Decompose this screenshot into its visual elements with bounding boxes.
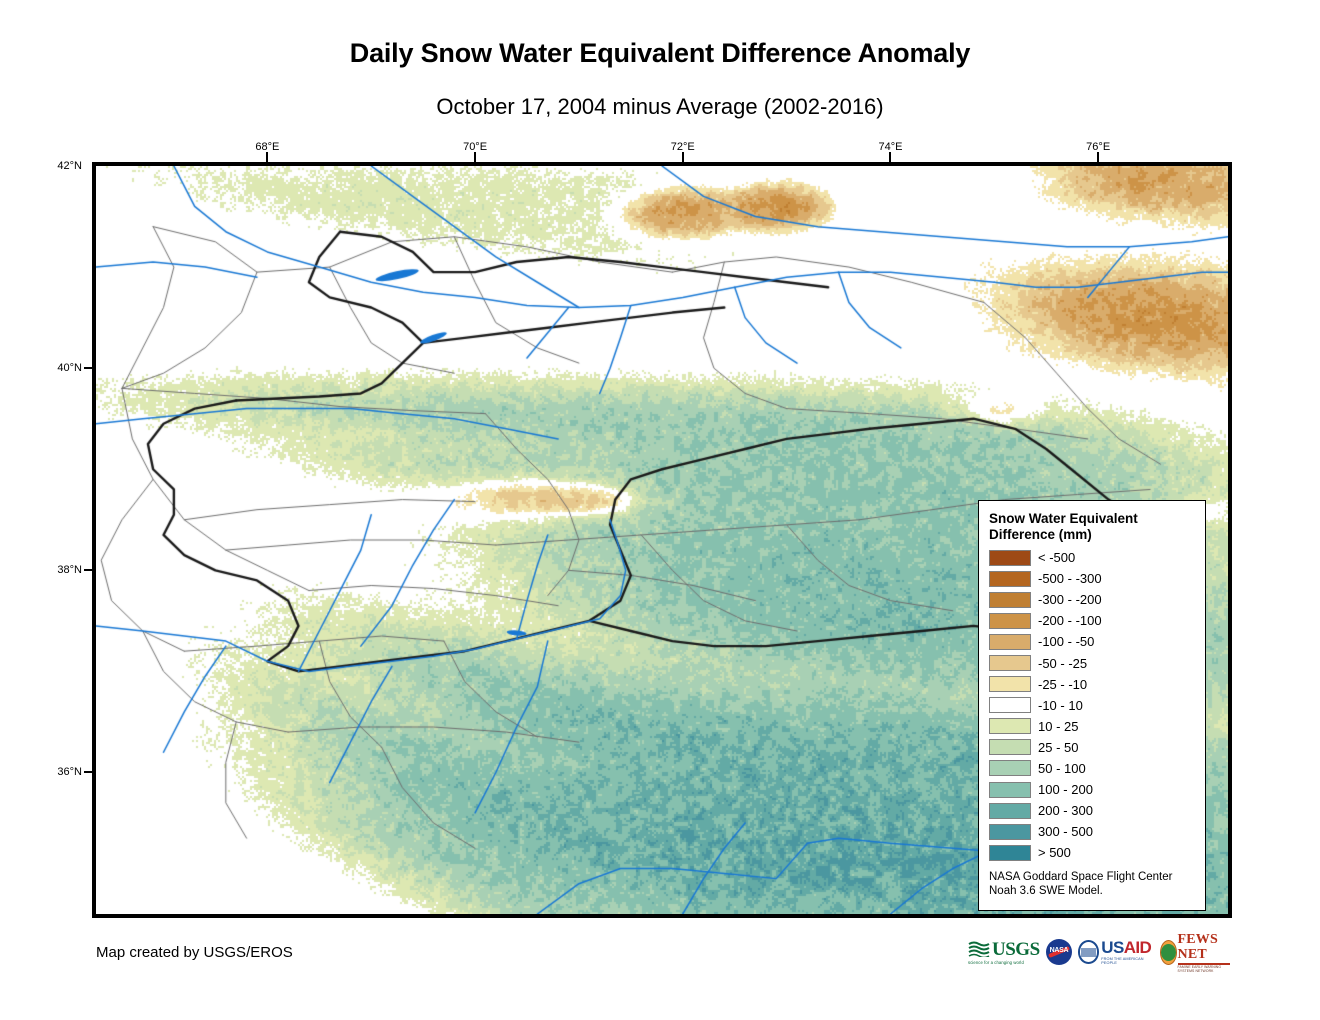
legend-color-swatch bbox=[989, 803, 1031, 819]
legend-color-swatch bbox=[989, 760, 1031, 776]
legend-class-label: -500 - -300 bbox=[1038, 571, 1102, 586]
legend-color-swatch bbox=[989, 550, 1031, 566]
legend-class-label: 100 - 200 bbox=[1038, 782, 1093, 797]
nasa-meatball-icon: NASA bbox=[1046, 939, 1072, 965]
legend-color-swatch bbox=[989, 592, 1031, 608]
usaid-logo-text-secondary: AID bbox=[1124, 938, 1151, 957]
legend-row: -300 - -200 bbox=[989, 589, 1195, 610]
legend-class-label: 300 - 500 bbox=[1038, 824, 1093, 839]
map-legend: Snow Water Equivalent Difference (mm) < … bbox=[978, 500, 1206, 911]
usgs-logo: USGS science for a changing world bbox=[968, 935, 1040, 969]
legend-row: -10 - 10 bbox=[989, 695, 1195, 716]
legend-row: 25 - 50 bbox=[989, 737, 1195, 758]
legend-source-note: NASA Goddard Space Flight Center Noah 3.… bbox=[989, 870, 1195, 898]
latitude-label: 40°N bbox=[40, 362, 82, 374]
legend-row: -200 - -100 bbox=[989, 610, 1195, 631]
legend-color-swatch bbox=[989, 782, 1031, 798]
fews-globe-icon bbox=[1160, 940, 1177, 965]
legend-class-label: > 500 bbox=[1038, 845, 1071, 860]
page-subtitle: October 17, 2004 minus Average (2002-201… bbox=[0, 94, 1320, 120]
usaid-logo-tagline: FROM THE AMERICAN PEOPLE bbox=[1101, 957, 1153, 965]
legend-class-label: -100 - -50 bbox=[1038, 634, 1094, 649]
legend-row: -500 - -300 bbox=[989, 568, 1195, 589]
legend-class-label: 50 - 100 bbox=[1038, 761, 1086, 776]
legend-row: 10 - 25 bbox=[989, 716, 1195, 737]
legend-class-label: 25 - 50 bbox=[1038, 740, 1078, 755]
legend-class-label: -10 - 10 bbox=[1038, 698, 1083, 713]
legend-class-label: -200 - -100 bbox=[1038, 613, 1102, 628]
legend-row: -100 - -50 bbox=[989, 631, 1195, 652]
legend-class-list: < -500-500 - -300-300 - -200-200 - -100-… bbox=[989, 547, 1195, 863]
latitude-label: 36°N bbox=[40, 766, 82, 778]
longitude-tick bbox=[889, 152, 891, 162]
legend-row: -50 - -25 bbox=[989, 652, 1195, 673]
legend-class-label: < -500 bbox=[1038, 550, 1075, 565]
usaid-logo-text-primary: US bbox=[1101, 938, 1123, 957]
usgs-logo-tagline: science for a changing world bbox=[968, 960, 1040, 965]
legend-color-swatch bbox=[989, 571, 1031, 587]
nasa-logo-text: NASA bbox=[1050, 947, 1069, 954]
longitude-tick bbox=[682, 152, 684, 162]
latitude-label: 38°N bbox=[40, 564, 82, 576]
legend-color-swatch bbox=[989, 634, 1031, 650]
longitude-tick bbox=[1097, 152, 1099, 162]
legend-row: > 500 bbox=[989, 842, 1195, 863]
usgs-logo-text: USGS bbox=[992, 940, 1040, 959]
legend-color-swatch bbox=[989, 739, 1031, 755]
legend-row: < -500 bbox=[989, 547, 1195, 568]
legend-row: 50 - 100 bbox=[989, 758, 1195, 779]
legend-color-swatch bbox=[989, 676, 1031, 692]
nasa-logo: NASA bbox=[1046, 935, 1072, 969]
fews-net-logo-text: FEWS NET bbox=[1178, 932, 1230, 962]
usaid-seal-icon bbox=[1078, 940, 1100, 964]
fews-net-logo-tagline: FAMINE EARLY WARNING SYSTEMS NETWORK bbox=[1178, 965, 1230, 973]
legend-row: -25 - -10 bbox=[989, 674, 1195, 695]
legend-row: 100 - 200 bbox=[989, 779, 1195, 800]
legend-color-swatch bbox=[989, 655, 1031, 671]
legend-class-label: -50 - -25 bbox=[1038, 656, 1087, 671]
legend-class-label: 200 - 300 bbox=[1038, 803, 1093, 818]
usgs-wave-icon bbox=[968, 941, 990, 957]
usaid-logo: USAID FROM THE AMERICAN PEOPLE bbox=[1078, 935, 1154, 969]
legend-row: 300 - 500 bbox=[989, 821, 1195, 842]
map-credit: Map created by USGS/EROS bbox=[96, 944, 293, 961]
legend-color-swatch bbox=[989, 845, 1031, 861]
longitude-tick bbox=[474, 152, 476, 162]
legend-class-label: -25 - -10 bbox=[1038, 677, 1087, 692]
legend-color-swatch bbox=[989, 697, 1031, 713]
legend-color-swatch bbox=[989, 613, 1031, 629]
legend-title: Snow Water Equivalent Difference (mm) bbox=[989, 511, 1195, 543]
latitude-label: 42°N bbox=[40, 160, 82, 172]
fews-net-logo: FEWS NET FAMINE EARLY WARNING SYSTEMS NE… bbox=[1160, 935, 1230, 969]
legend-color-swatch bbox=[989, 824, 1031, 840]
page-title: Daily Snow Water Equivalent Difference A… bbox=[0, 38, 1320, 69]
longitude-tick bbox=[266, 152, 268, 162]
legend-class-label: -300 - -200 bbox=[1038, 592, 1102, 607]
legend-row: 200 - 300 bbox=[989, 800, 1195, 821]
legend-class-label: 10 - 25 bbox=[1038, 719, 1078, 734]
logo-strip: USGS science for a changing world NASA U… bbox=[968, 934, 1230, 970]
legend-color-swatch bbox=[989, 718, 1031, 734]
